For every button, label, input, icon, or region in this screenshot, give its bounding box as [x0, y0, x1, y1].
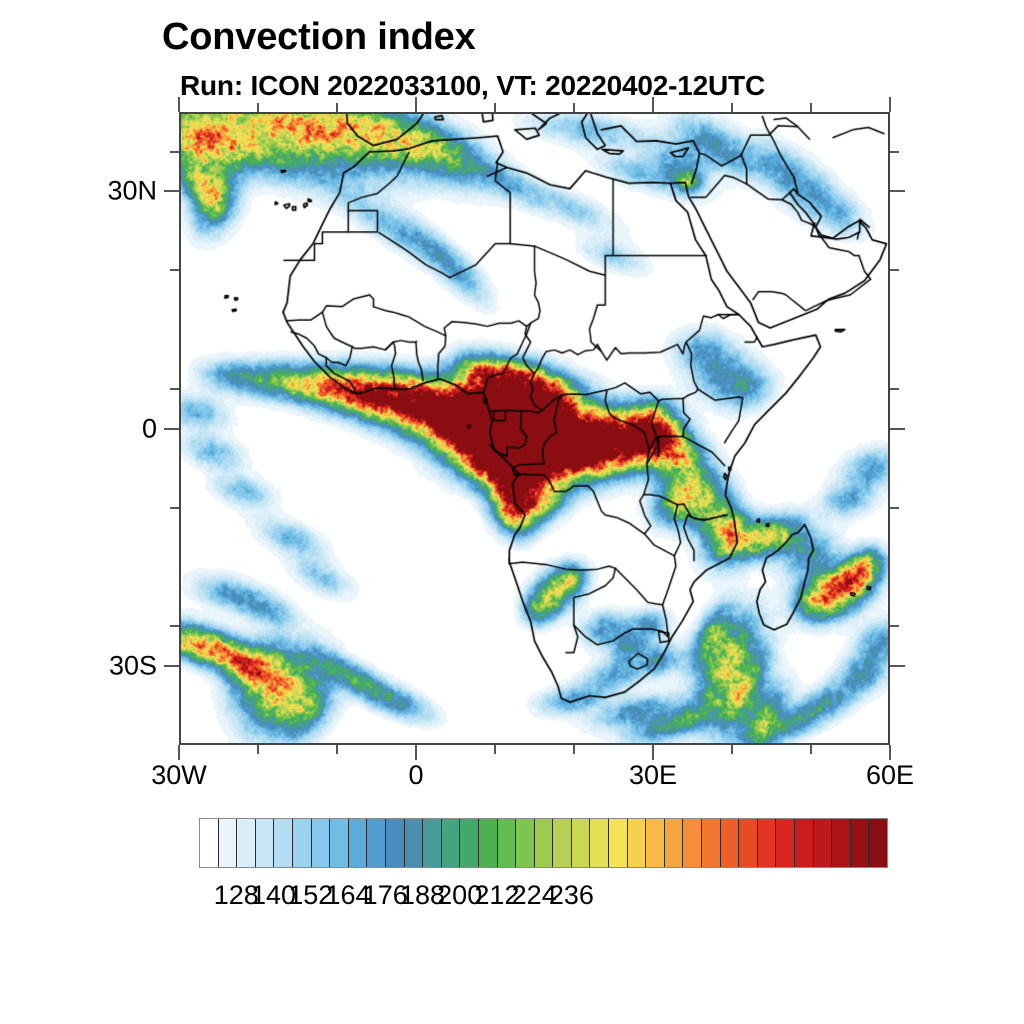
page-title: Convection index	[162, 16, 476, 59]
y-minor-tick	[170, 388, 179, 390]
colorbar-cell	[386, 819, 405, 867]
colorbar-cell	[758, 819, 777, 867]
colorbar-cell	[330, 819, 349, 867]
colorbar-tick-label: 236	[549, 880, 594, 911]
y-minor-tick	[170, 151, 179, 153]
x-minor-tick	[257, 745, 259, 754]
colorbar-cell	[609, 819, 628, 867]
y-axis-label: 0	[142, 413, 157, 444]
colorbar-cell	[442, 819, 461, 867]
colorbar-cell	[405, 819, 424, 867]
x-minor-tick	[810, 745, 812, 754]
x-major-tick-top	[415, 97, 417, 112]
colorbar-cell	[200, 819, 219, 867]
x-major-tick-top	[652, 97, 654, 112]
colorbar-cell	[665, 819, 684, 867]
colorbar-cell	[553, 819, 572, 867]
colorbar-cell	[237, 819, 256, 867]
run-valid-time-subtitle: Run: ICON 2022033100, VT: 20220402-12UTC	[180, 70, 765, 102]
colorbar-cell	[721, 819, 740, 867]
colorbar-cell	[628, 819, 647, 867]
x-minor-tick-top	[336, 103, 338, 112]
x-major-tick	[652, 745, 654, 760]
y-major-tick	[164, 665, 179, 667]
x-minor-tick	[731, 745, 733, 754]
y-major-tick-right	[890, 428, 905, 430]
y-major-tick-right	[890, 190, 905, 192]
colorbar-cell	[423, 819, 442, 867]
colorbar-cell	[367, 819, 386, 867]
colorbar-cell	[683, 819, 702, 867]
x-major-tick-top	[178, 97, 180, 112]
x-axis-label: 60E	[866, 760, 914, 791]
y-minor-tick-right	[890, 625, 899, 627]
x-minor-tick-top	[810, 103, 812, 112]
x-minor-tick-top	[573, 103, 575, 112]
colorbar-cell	[498, 819, 517, 867]
colorbar-cell	[832, 819, 851, 867]
x-minor-tick	[494, 745, 496, 754]
y-major-tick	[164, 428, 179, 430]
y-minor-tick-right	[890, 151, 899, 153]
x-axis-label: 30W	[151, 760, 207, 791]
x-major-tick	[889, 745, 891, 760]
y-minor-tick	[170, 507, 179, 509]
colorbar-cell	[814, 819, 833, 867]
y-minor-tick-right	[890, 388, 899, 390]
colorbar-cell	[776, 819, 795, 867]
colorbar-cell	[869, 819, 887, 867]
colorbar-cell	[851, 819, 870, 867]
colorbar-cell	[646, 819, 665, 867]
y-minor-tick-right	[890, 507, 899, 509]
x-minor-tick-top	[494, 103, 496, 112]
y-minor-tick	[170, 625, 179, 627]
colorbar-cell	[349, 819, 368, 867]
y-axis-label: 30N	[107, 176, 157, 207]
y-axis-label: 30S	[109, 650, 157, 681]
y-major-tick-right	[890, 665, 905, 667]
y-major-tick	[164, 190, 179, 192]
colorbar-cell	[256, 819, 275, 867]
colorbar-cell	[702, 819, 721, 867]
x-minor-tick	[573, 745, 575, 754]
colorbar-cell	[274, 819, 293, 867]
colorbar-cell	[590, 819, 609, 867]
x-axis-label: 0	[408, 760, 423, 791]
colorbar-cell	[460, 819, 479, 867]
colorbar-cell	[293, 819, 312, 867]
colorbar[interactable]	[199, 818, 888, 868]
colorbar-cell	[739, 819, 758, 867]
x-axis-label: 30E	[629, 760, 677, 791]
figure-root: Convection index Run: ICON 2022033100, V…	[0, 0, 1024, 1024]
x-minor-tick-top	[257, 103, 259, 112]
x-major-tick-top	[889, 97, 891, 112]
colorbar-cell	[516, 819, 535, 867]
x-minor-tick-top	[731, 103, 733, 112]
axis-ticks-layer	[179, 112, 890, 745]
colorbar-cell	[795, 819, 814, 867]
colorbar-cell	[535, 819, 554, 867]
x-major-tick	[415, 745, 417, 760]
colorbar-cell	[219, 819, 238, 867]
x-major-tick	[178, 745, 180, 760]
y-minor-tick-right	[890, 269, 899, 271]
y-minor-tick	[170, 269, 179, 271]
colorbar-cell	[479, 819, 498, 867]
x-minor-tick	[336, 745, 338, 754]
colorbar-cell	[572, 819, 591, 867]
colorbar-cell	[312, 819, 331, 867]
